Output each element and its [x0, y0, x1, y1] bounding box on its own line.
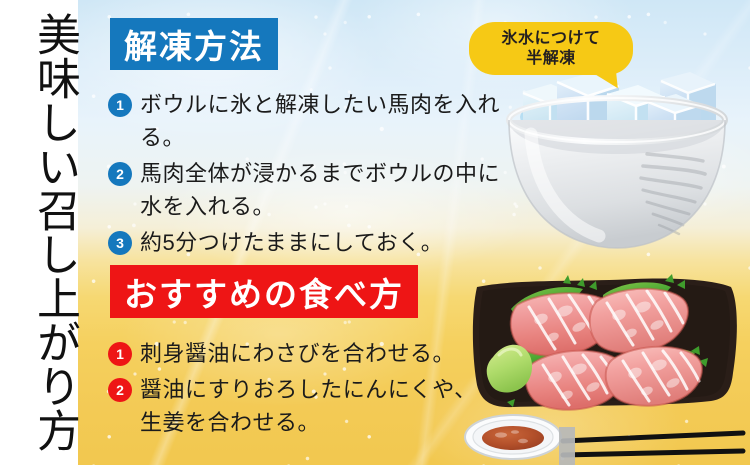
step-text: ボウルに氷と解凍したい馬肉を入れる。 — [140, 88, 508, 154]
step-number-badge: 2 — [108, 162, 132, 186]
step-number-badge: 3 — [108, 231, 132, 255]
step-text: 醤油にすりおろしたにんにくや、生姜を合わせる。 — [140, 373, 478, 439]
list-item: 1 ボウルに氷と解凍したい馬肉を入れる。 — [108, 88, 508, 154]
thawing-steps-list: 1 ボウルに氷と解凍したい馬肉を入れる。 2 馬肉全体が浸かるまでボウルの中に水… — [108, 88, 508, 262]
callout-bubble: 氷水につけて 半解凍 — [469, 22, 633, 75]
recommended-serving-header: おすすめの食べ方 — [110, 265, 418, 318]
callout-line-2: 半解凍 — [526, 49, 576, 69]
page-title: 美味しい召し上がり方 — [0, 12, 78, 452]
poster-canvas: 氷水につけて 半解凍 美味しい召し上がり方 解凍方法 1 ボウルに氷と解凍したい… — [0, 0, 750, 465]
sashimi-platter-illustration — [455, 265, 750, 465]
step-text: 約5分つけたままにしておく。 — [140, 226, 443, 259]
serving-steps-list: 1 刺身醤油にわさびを合わせる。 2 醤油にすりおろしたにんにくや、生姜を合わせ… — [108, 337, 478, 442]
step-text: 馬肉全体が浸かるまでボウルの中に水を入れる。 — [140, 157, 508, 223]
step-text: 刺身醤油にわさびを合わせる。 — [140, 337, 455, 370]
list-item: 2 醤油にすりおろしたにんにくや、生姜を合わせる。 — [108, 373, 478, 439]
thawing-method-header: 解凍方法 — [110, 18, 278, 70]
step-number-badge: 1 — [108, 342, 132, 366]
list-item: 3 約5分つけたままにしておく。 — [108, 226, 508, 259]
step-number-badge: 1 — [108, 93, 132, 117]
list-item: 1 刺身醤油にわさびを合わせる。 — [108, 337, 478, 370]
title-strip: 美味しい召し上がり方 — [0, 0, 78, 465]
bowl-of-ice-illustration — [495, 62, 745, 257]
thawing-method-header-label: 解凍方法 — [124, 20, 264, 68]
callout-line-1: 氷水につけて — [501, 29, 600, 49]
recommended-serving-header-label: おすすめの食べ方 — [124, 268, 404, 316]
step-number-badge: 2 — [108, 378, 132, 402]
list-item: 2 馬肉全体が浸かるまでボウルの中に水を入れる。 — [108, 157, 508, 223]
